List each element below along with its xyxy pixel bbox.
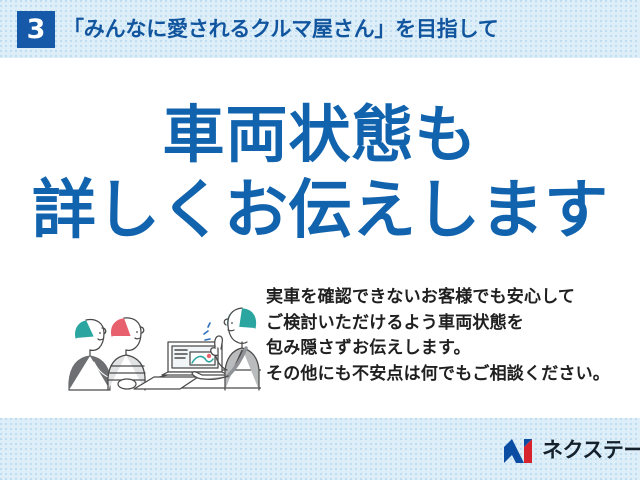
body-copy-line-2: ご検討いただけるよう車両状態を	[266, 310, 616, 336]
headline-line-2: 詳しくお伝えします	[0, 173, 640, 250]
brand-wordmark: ネクステージ	[542, 438, 640, 464]
body-copy-line-4: その他にも不安点は何でもご相談ください。	[266, 361, 616, 387]
headline-line-1: 車両状態も	[0, 96, 640, 173]
consultation-illustration	[56, 276, 261, 391]
step-number-badge: 3	[17, 11, 55, 48]
brand-logo: ネクステージ	[503, 437, 640, 465]
headline: 車両状態も 詳しくお伝えします	[0, 96, 640, 250]
body-copy: 実車を確認できないお客様でも安心して ご検討いただけるよう車両状態を 包み隠さず…	[266, 284, 616, 386]
body-copy-line-1: 実車を確認できないお客様でも安心して	[266, 284, 616, 310]
nextage-n-logo-icon	[503, 438, 535, 464]
body-copy-line-3: 包み隠さずお伝えします。	[266, 335, 616, 361]
header-title: 「みんなに愛されるクルマ屋さん」を目指して	[63, 13, 499, 47]
consultation-illustration-svg	[56, 276, 261, 391]
promo-slide: 3 「みんなに愛されるクルマ屋さん」を目指して 車両状態も 詳しくお伝えします	[0, 0, 640, 480]
